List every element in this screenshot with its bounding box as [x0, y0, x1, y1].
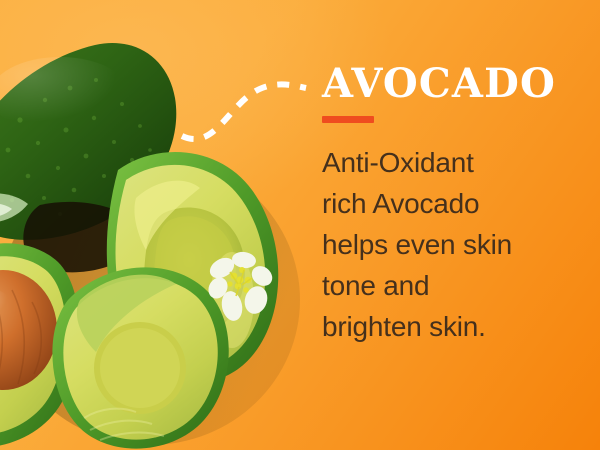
body-line: Anti-Oxidant	[322, 142, 584, 183]
body-line: helps even skin	[322, 224, 584, 265]
title-underline	[322, 116, 374, 123]
avocado-ingredient-banner: AVOCADO Anti-Oxidant rich Avocado helps …	[0, 0, 600, 450]
body-line: rich Avocado	[322, 183, 584, 224]
body-description: Anti-Oxidant rich Avocado helps even ski…	[322, 123, 584, 347]
page-title: AVOCADO	[322, 62, 584, 106]
text-panel: AVOCADO Anti-Oxidant rich Avocado helps …	[322, 62, 584, 347]
avocado-half-small	[52, 267, 228, 448]
body-line: brighten skin.	[322, 306, 584, 347]
body-line: tone and	[322, 265, 584, 306]
dashed-curve	[170, 60, 320, 155]
